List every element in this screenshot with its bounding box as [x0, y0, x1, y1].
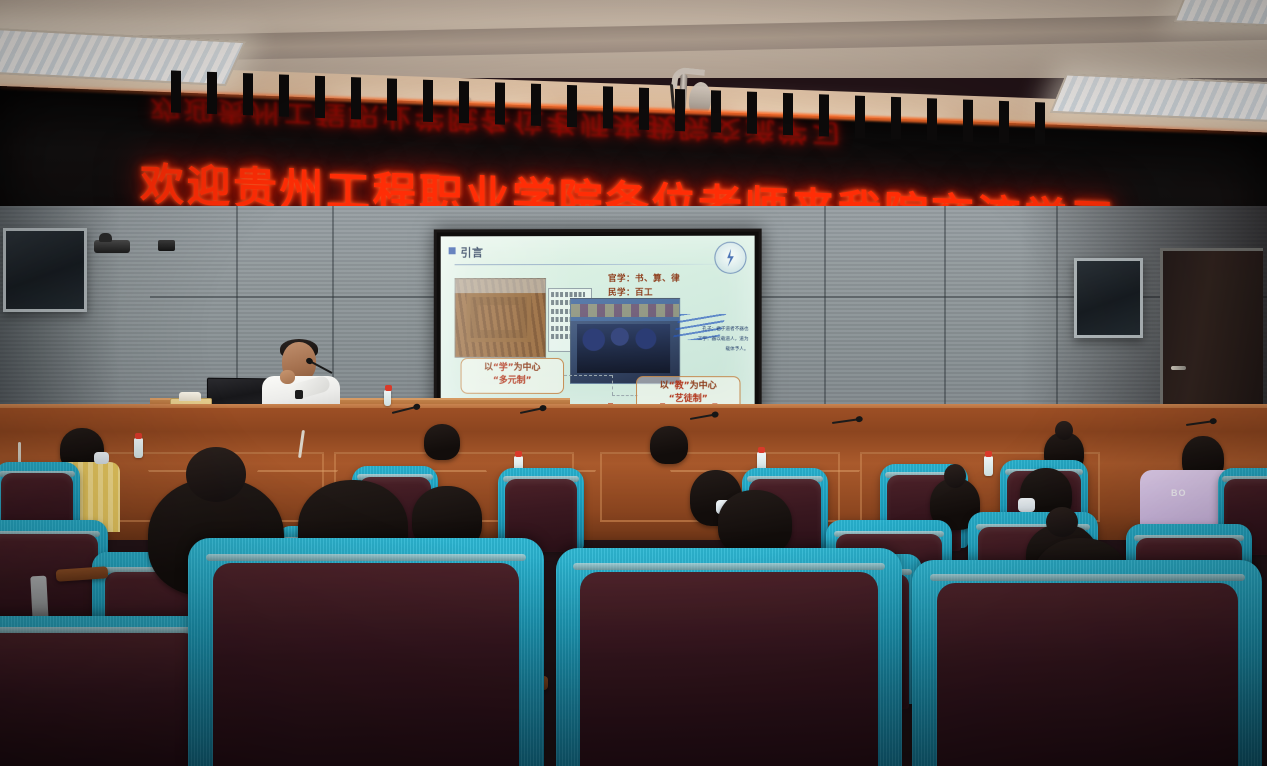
wall-speaker-left [3, 228, 87, 312]
lecture-hall-photo: 欢迎贵州工程职业学院各位老师来我院交流学习 欢迎贵州工程职业学院各位老师来我院交… [0, 0, 1267, 766]
water-bottle [134, 438, 143, 458]
concept-box-1-post: 为中心 [514, 363, 541, 373]
concept-box-1-quote: “学” [493, 363, 514, 373]
wall-speaker-right [1074, 258, 1143, 338]
slide-title-rule [455, 264, 731, 265]
concept-box-2-post: 为中心 [690, 381, 717, 391]
slide-heading-folk: 民学：百工 [608, 286, 653, 298]
slide-connector-h1 [564, 375, 612, 376]
audience-head [718, 490, 792, 556]
university-emblem-icon [714, 242, 746, 274]
water-bottle [384, 390, 391, 406]
slide-note-3: 载体予人。 [725, 346, 748, 352]
face-mask [94, 452, 109, 464]
presenter-watch [295, 390, 303, 399]
auditorium-seat-front[interactable] [912, 560, 1262, 766]
slide-connector-v [612, 375, 613, 395]
slide-photo-woodwork [455, 278, 546, 358]
concept-box-2-quote: “教” [669, 381, 690, 391]
wall-control-box [158, 240, 175, 251]
projection-screen: 引言 官学：书、算、律 民学：百工 孔子：君子道者不器也 工学：器以载道人，道为… [434, 229, 762, 418]
presenter-hand [280, 370, 295, 384]
concept-box-1-line2: “多元制” [467, 375, 559, 388]
slide-title: 引言 [461, 244, 484, 260]
slide-bullet-icon [449, 247, 456, 254]
face-mask [1018, 498, 1035, 512]
presentation-slide: 引言 官学：书、算、律 民学：百工 孔子：君子道者不器也 工学：器以载道人，道为… [441, 236, 755, 411]
wall-camera-icon [94, 240, 130, 253]
audience-head [650, 426, 688, 464]
water-bottle [984, 456, 993, 476]
slide-note-2: 工学：器以载道人，道为 [698, 336, 749, 342]
concept-box-2-pre: 以 [660, 381, 669, 391]
slide-photo-workshop [570, 298, 680, 384]
audience-shirt-text: BO [1171, 488, 1187, 498]
slide-concept-box-learning: 以“学”为中心 “多元制” [461, 358, 564, 394]
auditorium-seat-front[interactable] [556, 548, 902, 766]
audience-head [424, 424, 460, 460]
door-handle-icon[interactable] [1171, 366, 1186, 370]
slide-note-1: 孔子：君子道者不器也 [702, 326, 748, 332]
slide-heading-official: 官学：书、算、律 [608, 272, 680, 284]
concept-box-1-pre: 以 [484, 363, 493, 373]
slide-connector-h2 [612, 395, 638, 396]
auditorium-seat-front[interactable] [188, 538, 544, 766]
auditorium-seat-front[interactable] [0, 616, 220, 766]
